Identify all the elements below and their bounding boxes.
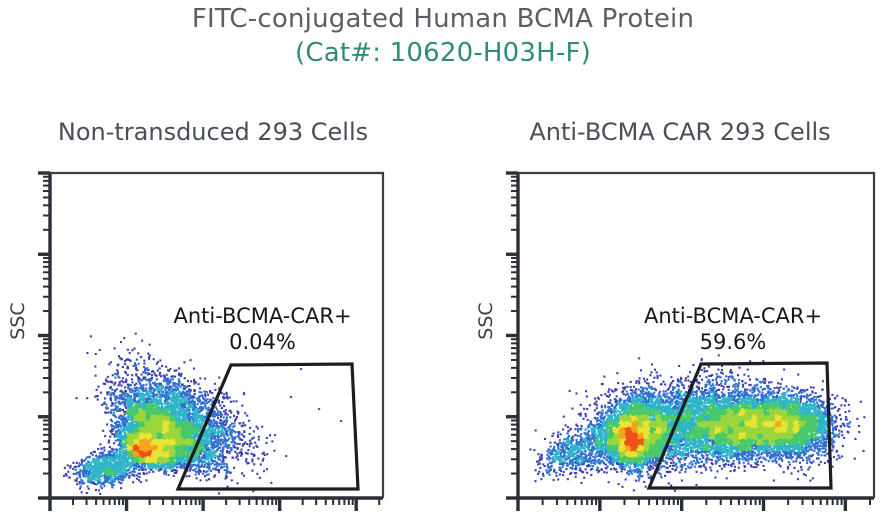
gate-label-right: Anti-BCMA-CAR+ 59.6% <box>608 303 858 355</box>
flow-cytometry-figure: FITC-conjugated Human BCMA Protein (Cat#… <box>0 0 886 520</box>
gate-percent-right: 59.6% <box>608 329 858 355</box>
plot-canvas <box>0 0 886 520</box>
gate-label-left-text: Anti-BCMA-CAR+ <box>173 304 351 328</box>
gate-percent-left: 0.04% <box>140 329 385 355</box>
gate-label-left: Anti-BCMA-CAR+ 0.04% <box>140 303 385 355</box>
gate-label-right-text: Anti-BCMA-CAR+ <box>644 304 822 328</box>
density-dots-left <box>63 333 342 495</box>
gate-polygon-left[interactable] <box>178 364 358 489</box>
